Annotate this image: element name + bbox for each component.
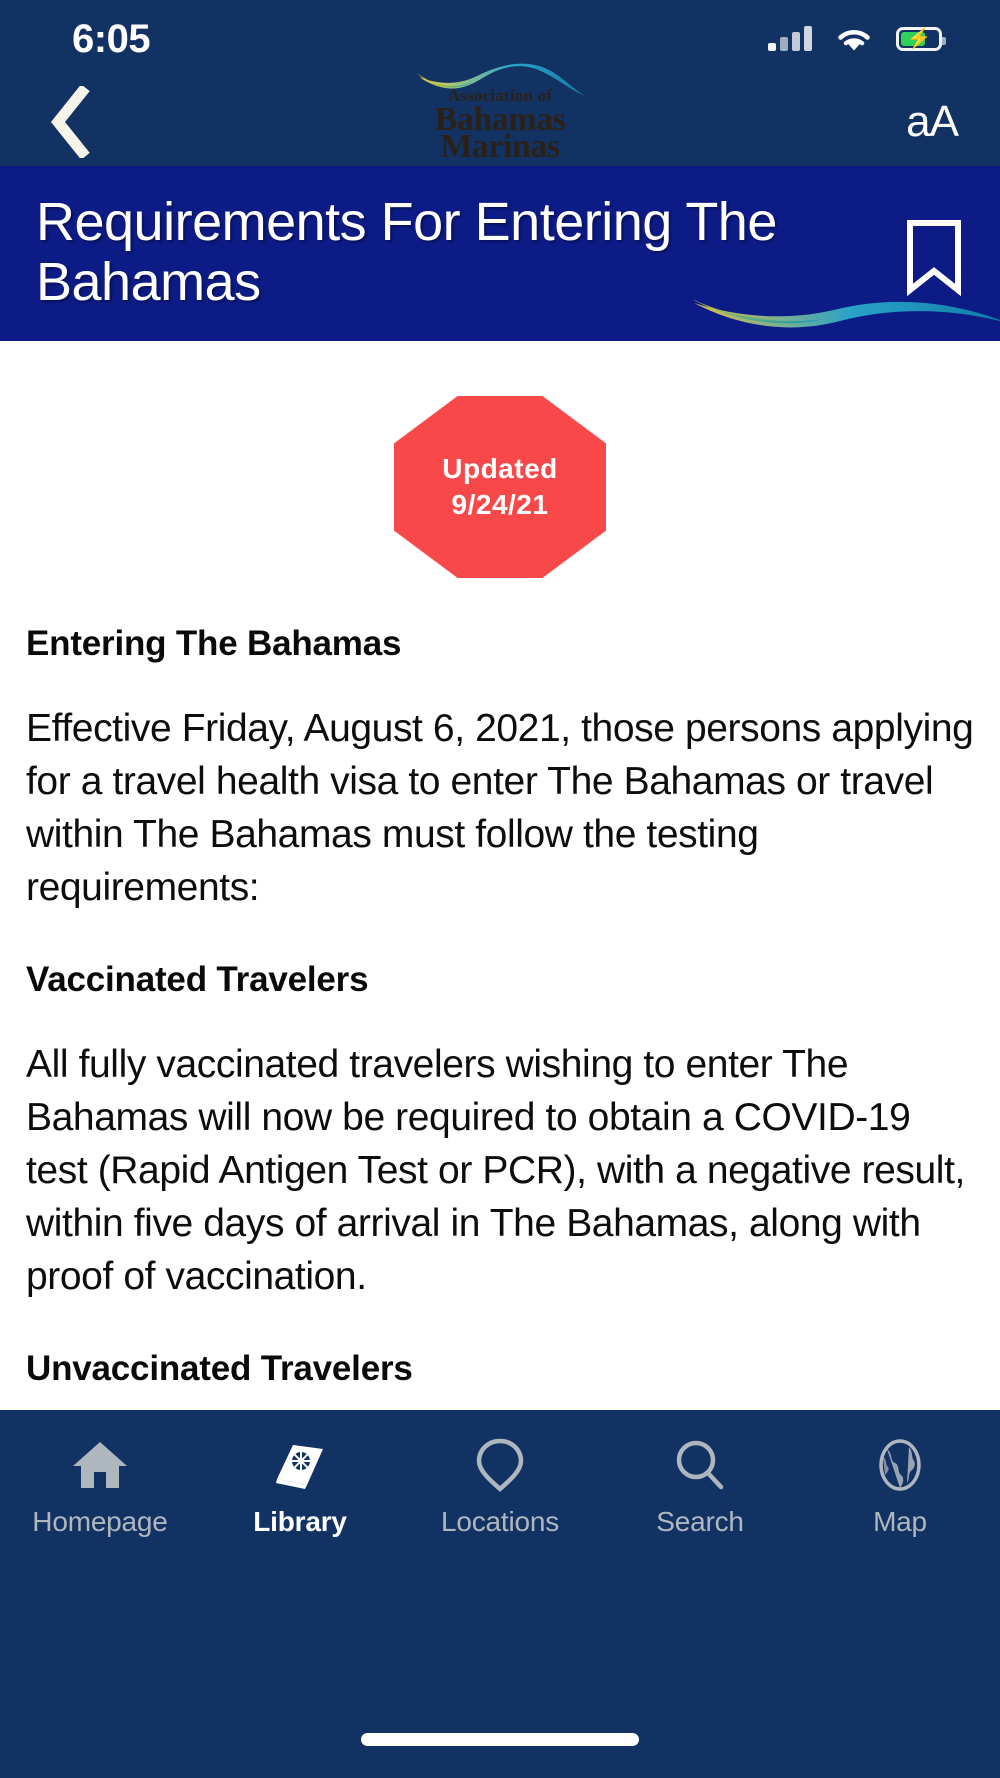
updated-badge: Updated 9/24/21: [394, 396, 606, 578]
nav-bar: Association of Bahamas Marinas aA: [0, 78, 1000, 166]
bookmark-icon: [902, 218, 966, 296]
tab-label-locations: Locations: [441, 1506, 559, 1538]
logo-line-3: Marinas: [435, 131, 566, 162]
home-icon: [71, 1434, 129, 1496]
section-heading-entering: Entering The Bahamas: [26, 624, 974, 664]
paragraph-effective-date: Effective Friday, August 6, 2021, those …: [26, 702, 974, 914]
chevron-left-icon: [48, 86, 94, 158]
bookmark-button[interactable]: [902, 218, 966, 296]
home-indicator[interactable]: [361, 1733, 639, 1746]
paragraph-vaccinated: All fully vaccinated travelers wishing t…: [26, 1038, 974, 1303]
tab-search[interactable]: Search: [600, 1434, 800, 1538]
page-title-bar: Requirements For Entering The Bahamas: [0, 166, 1000, 341]
logo-line-1: Association of: [435, 88, 566, 104]
map-pin-icon: [471, 1434, 529, 1496]
tab-map[interactable]: Map: [800, 1434, 1000, 1538]
book-icon: [271, 1434, 329, 1496]
article-body: Entering The Bahamas Effective Friday, A…: [24, 624, 976, 1410]
wifi-icon: [834, 25, 874, 54]
tab-label-library: Library: [253, 1506, 347, 1538]
tab-homepage[interactable]: Homepage: [0, 1434, 200, 1538]
section-heading-vaccinated: Vaccinated Travelers: [26, 960, 974, 1000]
bottom-tab-bar: Homepage Library: [0, 1410, 1000, 1778]
tab-list: Homepage Library: [0, 1410, 1000, 1538]
article-scroll-area[interactable]: Updated 9/24/21 Entering The Bahamas Eff…: [0, 341, 1000, 1410]
text-size-button[interactable]: aA: [906, 100, 962, 144]
globe-icon: [873, 1434, 927, 1496]
updated-badge-line-2: 9/24/21: [452, 487, 549, 523]
tab-label-homepage: Homepage: [32, 1506, 167, 1538]
updated-badge-wrapper: Updated 9/24/21: [24, 341, 976, 624]
tab-label-search: Search: [656, 1506, 744, 1538]
logo-line-2: Bahamas: [435, 104, 566, 135]
back-button[interactable]: [36, 87, 106, 157]
updated-badge-line-1: Updated: [442, 451, 558, 487]
battery-charging-icon: ⚡: [896, 27, 942, 51]
tab-locations[interactable]: Locations: [400, 1434, 600, 1538]
tab-library[interactable]: Library: [200, 1434, 400, 1538]
section-heading-unvaccinated: Unvaccinated Travelers: [26, 1349, 974, 1389]
status-time: 6:05: [72, 17, 150, 62]
status-icons: ⚡: [768, 25, 942, 54]
tab-label-map: Map: [873, 1506, 927, 1538]
search-icon: [671, 1434, 729, 1496]
page-title: Requirements For Entering The Bahamas: [36, 192, 806, 341]
cellular-signal-icon: [768, 27, 812, 51]
status-bar: 6:05 ⚡: [0, 0, 1000, 78]
